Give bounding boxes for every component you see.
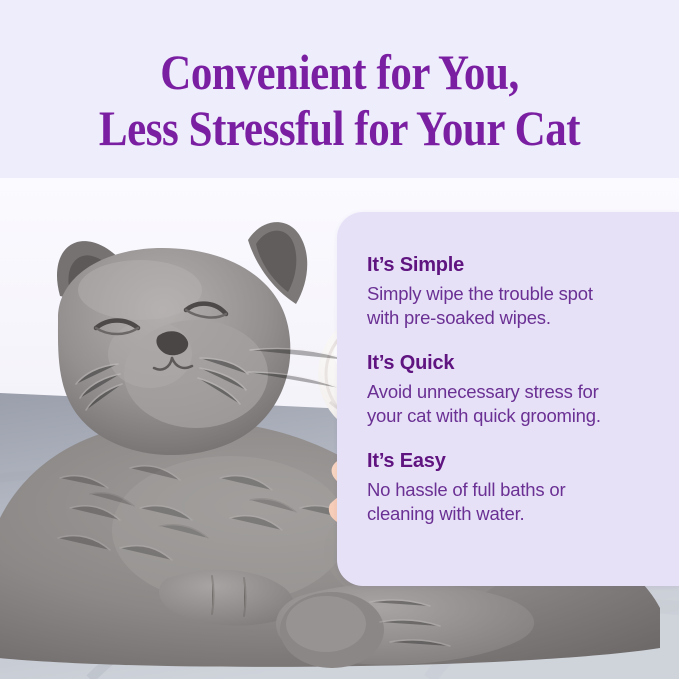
headline-line-1: Convenient for You, [48, 44, 632, 100]
feature-body: Simply wipe the trouble spot with pre-so… [367, 282, 667, 330]
feature-body-line-2: your cat with quick grooming. [367, 405, 601, 426]
feature-body-line-2: cleaning with water. [367, 503, 524, 524]
feature-body-line-1: Simply wipe the trouble spot [367, 283, 593, 304]
feature-title: It’s Simple [367, 254, 667, 277]
feature-body-line-2: with pre-soaked wipes. [367, 307, 551, 328]
feature-item-easy: It’s Easy No hassle of full baths or cle… [367, 450, 667, 526]
feature-body-line-1: No hassle of full baths or [367, 479, 565, 500]
feature-item-simple: It’s Simple Simply wipe the trouble spot… [367, 254, 667, 330]
feature-panel: It’s Simple Simply wipe the trouble spot… [337, 212, 679, 586]
feature-body: No hassle of full baths or cleaning with… [367, 478, 667, 526]
page-title: Convenient for You, Less Stressful for Y… [48, 44, 632, 156]
feature-list: It’s Simple Simply wipe the trouble spot… [367, 254, 667, 526]
promo-graphic: Convenient for You, Less Stressful for Y… [0, 0, 679, 679]
feature-title: It’s Quick [367, 352, 667, 375]
feature-body: Avoid unnecessary stress for your cat wi… [367, 380, 667, 428]
feature-title: It’s Easy [367, 450, 667, 473]
feature-item-quick: It’s Quick Avoid unnecessary stress for … [367, 352, 667, 428]
feature-body-line-1: Avoid unnecessary stress for [367, 381, 599, 402]
headline-line-2: Less Stressful for Your Cat [48, 100, 632, 156]
